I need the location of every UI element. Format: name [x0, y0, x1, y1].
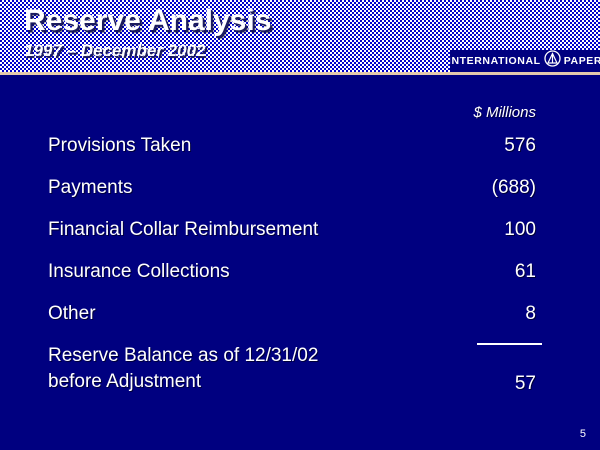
- logo-left-word: INTERNATIONAL: [450, 56, 541, 67]
- table-row: Other8: [0, 301, 600, 343]
- row-value: 57: [0, 371, 536, 397]
- row-value: 100: [0, 217, 536, 243]
- reserve-analysis-table: Provisions Taken576Payments(688)Financia…: [0, 133, 600, 399]
- table-row: Insurance Collections61: [0, 259, 600, 301]
- logo-right-word: PAPER: [564, 56, 600, 67]
- slide-header: Reserve Analysis 1997 – December 2002 IN…: [0, 0, 600, 72]
- page-subtitle: 1997 – December 2002: [24, 41, 205, 61]
- table-row: Payments(688): [0, 175, 600, 217]
- slide-body: $ Millions Provisions Taken576Payments(6…: [0, 75, 600, 450]
- table-row: Provisions Taken576: [0, 133, 600, 175]
- circle-tree-icon: [544, 50, 561, 72]
- table-row: Financial Collar Reimbursement100: [0, 217, 600, 259]
- total-divider: [477, 343, 542, 345]
- units-label: $ Millions: [473, 104, 536, 121]
- row-value: (688): [0, 175, 536, 201]
- table-row: Reserve Balance as of 12/31/02 before Ad…: [0, 343, 600, 399]
- page-title: Reserve Analysis: [24, 4, 271, 38]
- page-number: 5: [580, 428, 586, 440]
- international-paper-logo: INTERNATIONAL PAPER: [450, 50, 600, 72]
- row-value: 61: [0, 259, 536, 285]
- row-value: 8: [0, 301, 536, 327]
- row-value: 576: [0, 133, 536, 159]
